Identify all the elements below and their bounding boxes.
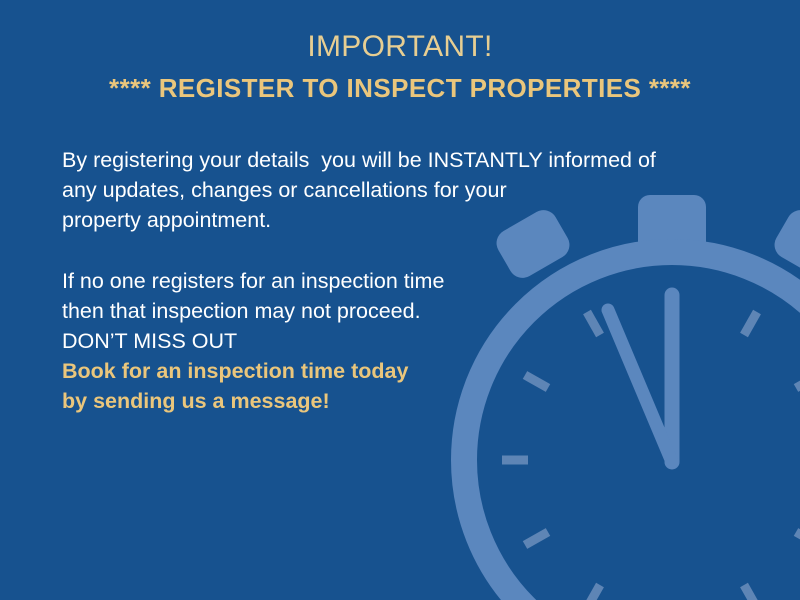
cta-line: Book for an inspection time today (62, 356, 712, 386)
slide-canvas: IMPORTANT! **** REGISTER TO INSPECT PROP… (0, 0, 800, 600)
slide-content: IMPORTANT! **** REGISTER TO INSPECT PROP… (0, 0, 800, 600)
paragraph-no-registrations: If no one registers for an inspection ti… (62, 266, 712, 326)
cta-line: by sending us a message! (62, 386, 712, 416)
cta-lines: Book for an inspection time today by sen… (62, 356, 712, 416)
headline-secondary: **** REGISTER TO INSPECT PROPERTIES **** (0, 72, 800, 104)
paragraph-line: If no one registers for an inspection ti… (62, 266, 712, 296)
paragraph-line: then that inspection may not proceed. (62, 296, 712, 326)
call-to-action-block: DON’T MISS OUT Book for an inspection ti… (62, 326, 712, 416)
paragraph-line: By registering your details you will be … (62, 145, 712, 175)
paragraph-line: property appointment. (62, 205, 712, 235)
cta-heading: DON’T MISS OUT (62, 326, 712, 356)
body-block: By registering your details you will be … (62, 145, 712, 416)
paragraph-line: any updates, changes or cancellations fo… (62, 175, 712, 205)
paragraph-registering: By registering your details you will be … (62, 145, 712, 235)
headline-primary: IMPORTANT! (0, 28, 800, 66)
headline-block: IMPORTANT! **** REGISTER TO INSPECT PROP… (0, 28, 800, 104)
